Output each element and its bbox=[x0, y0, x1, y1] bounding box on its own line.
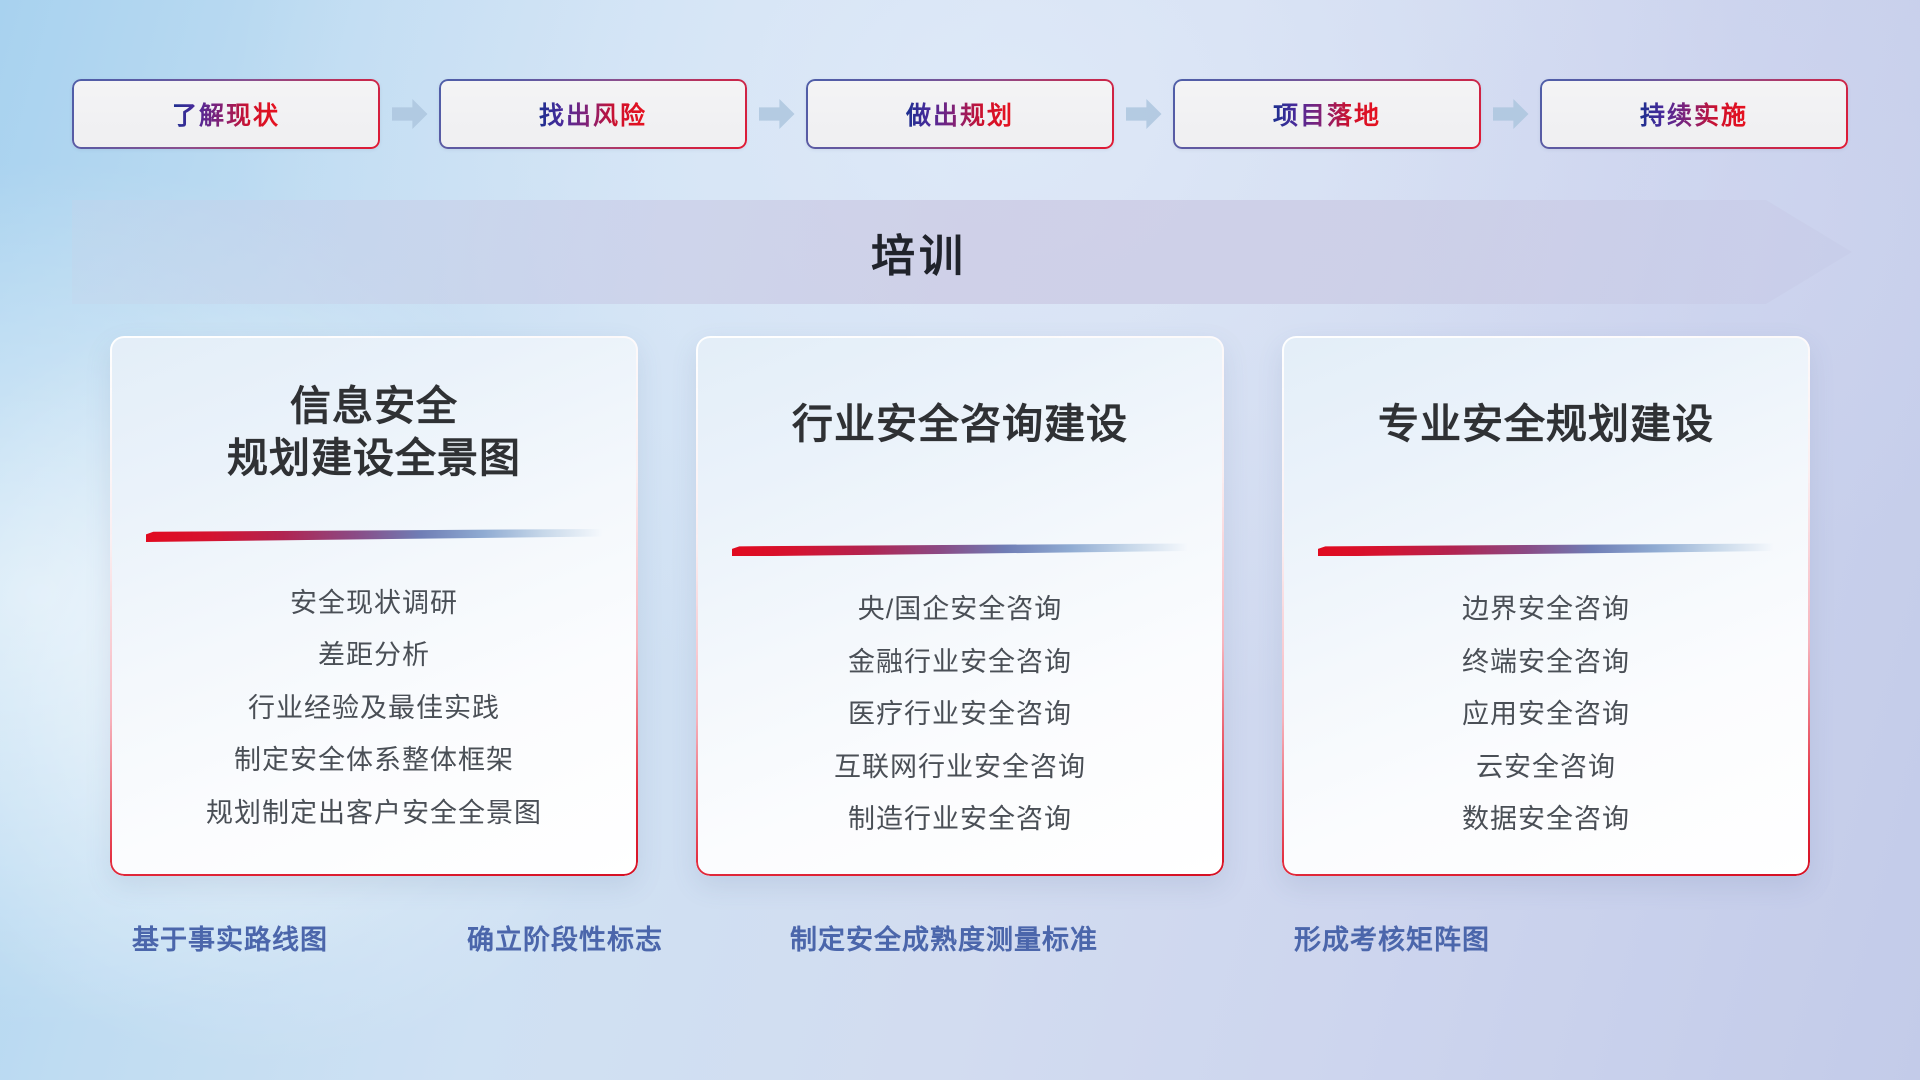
list-item: 云安全咨询 bbox=[1476, 749, 1616, 785]
card-row: 信息安全 规划建设全景图 安全现状调研 差距分析 行业经验及最佳实践 制定安全体… bbox=[110, 336, 1810, 876]
list-item: 规划制定出客户安全全景图 bbox=[206, 795, 542, 831]
footnote-row: 基于事实路线图 确立阶段性标志 制定安全成熟度测量标准 形成考核矩阵图 bbox=[0, 918, 1920, 962]
card-title: 专业安全规划建设 bbox=[1378, 398, 1714, 450]
step-label: 了解现状 bbox=[172, 96, 280, 132]
card-list: 安全现状调研 差距分析 行业经验及最佳实践 制定安全体系整体框架 规划制定出客户… bbox=[206, 585, 542, 831]
card-list: 边界安全咨询 终端安全咨询 应用安全咨询 云安全咨询 数据安全咨询 bbox=[1462, 591, 1630, 837]
step-label: 找出风险 bbox=[539, 96, 647, 132]
card-industry-security-consulting[interactable]: 行业安全咨询建设 央/国企安全咨询 金融行业安全咨询 医疗行业安全咨询 互联网行… bbox=[696, 336, 1224, 876]
list-item: 应用安全咨询 bbox=[1462, 696, 1630, 732]
card-title: 行业安全咨询建设 bbox=[792, 398, 1128, 450]
list-item: 央/国企安全咨询 bbox=[858, 591, 1063, 627]
gradient-divider bbox=[732, 543, 1188, 556]
list-item: 行业经验及最佳实践 bbox=[248, 690, 500, 726]
step-label: 持续实施 bbox=[1640, 96, 1748, 132]
list-item: 制定安全体系整体框架 bbox=[234, 742, 514, 778]
slide-canvas: 了解现状 找出风险 做出规划 项目落地 持续实施 培训 信息安全 规划建设全景图 bbox=[0, 0, 1920, 1080]
list-item: 差距分析 bbox=[318, 637, 430, 673]
training-banner: 培训 bbox=[72, 200, 1852, 304]
list-item: 制造行业安全咨询 bbox=[848, 801, 1072, 837]
step-box-3[interactable]: 做出规划 bbox=[806, 79, 1114, 149]
list-item: 互联网行业安全咨询 bbox=[834, 749, 1086, 785]
list-item: 医疗行业安全咨询 bbox=[848, 696, 1072, 732]
banner-title: 培训 bbox=[871, 220, 967, 284]
gradient-divider bbox=[1318, 543, 1774, 556]
card-divider-wrap bbox=[144, 529, 604, 547]
card-divider-wrap bbox=[730, 543, 1190, 561]
list-item: 数据安全咨询 bbox=[1462, 801, 1630, 837]
card-list: 央/国企安全咨询 金融行业安全咨询 医疗行业安全咨询 互联网行业安全咨询 制造行… bbox=[834, 591, 1086, 837]
card-title: 信息安全 规划建设全景图 bbox=[227, 380, 521, 485]
step-box-4[interactable]: 项目落地 bbox=[1173, 79, 1481, 149]
list-item: 终端安全咨询 bbox=[1462, 644, 1630, 680]
footnote-label: 制定安全成熟度测量标准 bbox=[790, 918, 1098, 957]
step-box-5[interactable]: 持续实施 bbox=[1540, 79, 1848, 149]
arrow-right-icon bbox=[1126, 99, 1162, 129]
list-item: 金融行业安全咨询 bbox=[848, 644, 1072, 680]
step-label: 做出规划 bbox=[906, 96, 1014, 132]
footnote-label: 确立阶段性标志 bbox=[467, 918, 663, 957]
list-item: 安全现状调研 bbox=[290, 585, 458, 621]
arrow-right-icon bbox=[759, 99, 795, 129]
step-label: 项目落地 bbox=[1273, 96, 1381, 132]
footnote-label: 基于事实路线图 bbox=[132, 918, 328, 957]
footnote-label: 形成考核矩阵图 bbox=[1294, 918, 1490, 957]
list-item: 边界安全咨询 bbox=[1462, 591, 1630, 627]
gradient-divider bbox=[146, 529, 602, 542]
card-professional-security-planning[interactable]: 专业安全规划建设 边界安全咨询 终端安全咨询 应用安全咨询 云安全咨询 数据安全… bbox=[1282, 336, 1810, 876]
process-step-row: 了解现状 找出风险 做出规划 项目落地 持续实施 bbox=[72, 78, 1848, 150]
arrow-right-icon bbox=[392, 99, 428, 129]
arrow-right-icon bbox=[1493, 99, 1529, 129]
card-information-security-blueprint[interactable]: 信息安全 规划建设全景图 安全现状调研 差距分析 行业经验及最佳实践 制定安全体… bbox=[110, 336, 638, 876]
step-box-2[interactable]: 找出风险 bbox=[439, 79, 747, 149]
step-box-1[interactable]: 了解现状 bbox=[72, 79, 380, 149]
card-divider-wrap bbox=[1316, 543, 1776, 561]
